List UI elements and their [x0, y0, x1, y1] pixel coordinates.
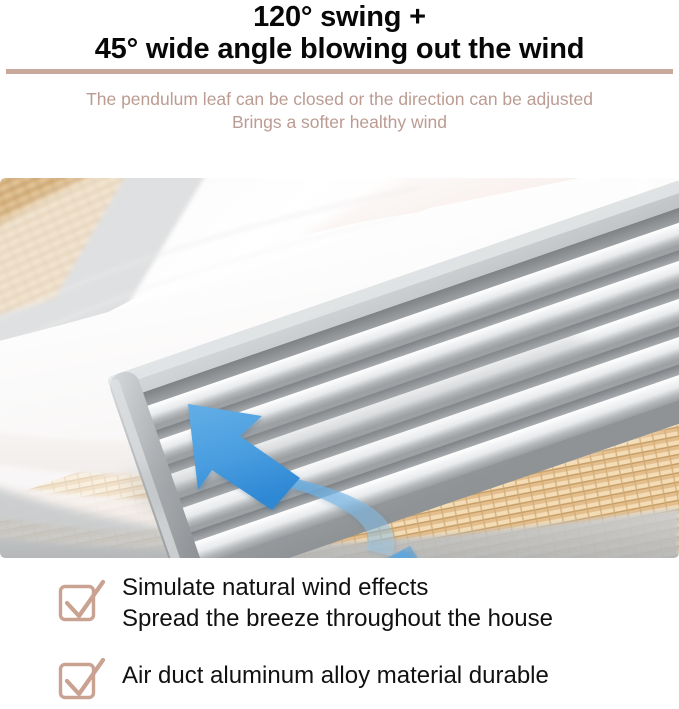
subtitle-line-1: The pendulum leaf can be closed or the d…: [0, 88, 679, 111]
subtitle: The pendulum leaf can be closed or the d…: [0, 74, 679, 134]
list-item: Simulate natural wind effects Spread the…: [56, 570, 679, 634]
subtitle-line-2: Brings a softer healthy wind: [0, 111, 679, 134]
list-item-line-1: Simulate natural wind effects: [122, 572, 553, 603]
feature-list: Simulate natural wind effects Spread the…: [0, 570, 679, 704]
list-item-text: Air duct aluminum alloy material durable: [122, 648, 549, 691]
list-item-text: Simulate natural wind effects Spread the…: [122, 570, 553, 634]
list-item-line-1: Air duct aluminum alloy material durable: [122, 660, 549, 691]
list-item-line-2: Spread the breeze throughout the house: [122, 603, 553, 634]
list-item: Air duct aluminum alloy material durable: [56, 648, 679, 704]
title-line-1: 120° swing +: [0, 1, 679, 33]
title-line-2: 45° wide angle blowing out the wind: [0, 33, 679, 65]
product-photo-illustration: [0, 178, 679, 558]
header: 120° swing + 45° wide angle blowing out …: [0, 0, 679, 133]
product-photo: [0, 178, 679, 558]
checkbox-checked-icon: [56, 654, 106, 704]
checkbox-checked-icon: [56, 576, 106, 626]
product-feature-panel: { "header": { "title_line_1": "120° swin…: [0, 0, 679, 705]
page-title: 120° swing + 45° wide angle blowing out …: [0, 0, 679, 66]
